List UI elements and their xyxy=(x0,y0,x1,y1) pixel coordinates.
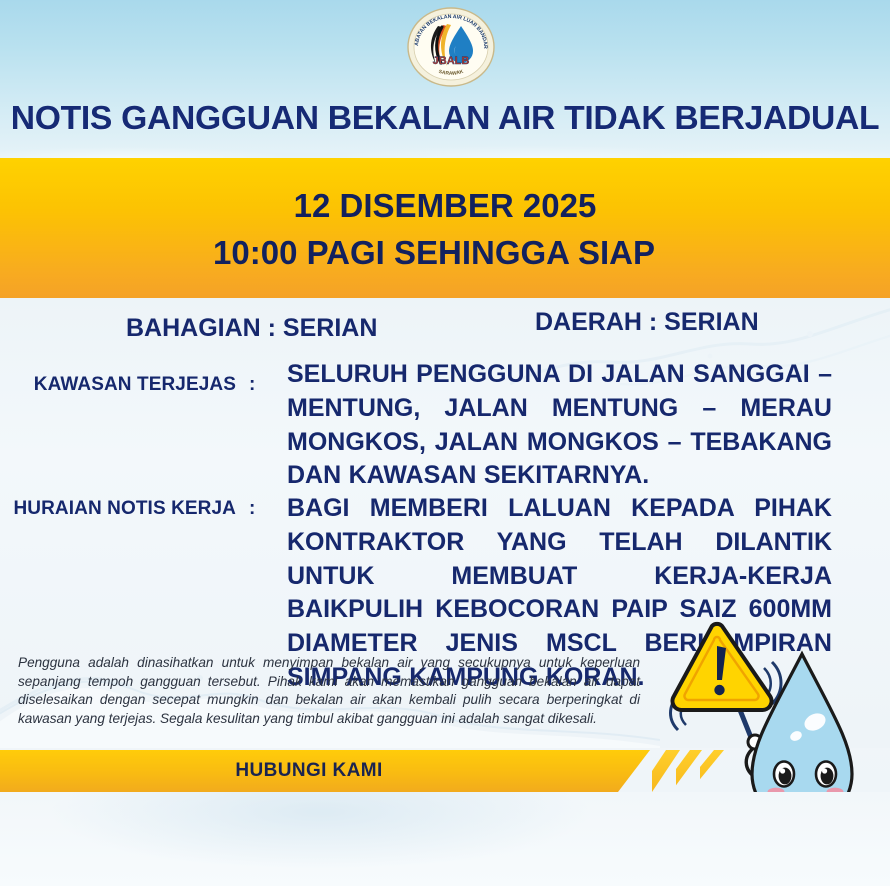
page-title: NOTIS GANGGUAN BEKALAN AIR TIDAK BERJADU… xyxy=(0,99,890,137)
schedule-time: 10:00 PAGI SEHINGGA SIAP xyxy=(213,234,677,273)
field-value: SELURUH PENGGUNA DI JALAN SANGGAI – MENT… xyxy=(287,358,832,493)
field-label: HURAIAN NOTIS KERJA xyxy=(0,498,236,520)
notice-poster: JABATAN BEKALAN AIR LUAR BANDAR SARAWAK … xyxy=(0,0,890,886)
bahagian-label: BAHAGIAN : SERIAN xyxy=(126,314,377,343)
banner-slash-3 xyxy=(700,750,730,792)
notice-body: BAHAGIAN : SERIAN DAERAH : SERIAN KAWASA… xyxy=(0,298,890,748)
region-row: BAHAGIAN : SERIAN DAERAH : SERIAN xyxy=(0,308,890,352)
daerah-label: DAERAH : SERIAN xyxy=(535,308,759,337)
jbalb-logo-icon: JABATAN BEKALAN AIR LUAR BANDAR SARAWAK … xyxy=(405,6,497,88)
contact-banner: HUBUNGI KAMI xyxy=(0,750,890,792)
field-colon: : xyxy=(249,498,255,520)
contact-banner-title: HUBUNGI KAMI xyxy=(0,750,618,792)
svg-text:JBALB: JBALB xyxy=(433,55,470,67)
field-colon: : xyxy=(249,374,255,396)
contact-footer: CALL CENTRE JBALB SARAWAK 082-262211 JBA… xyxy=(0,792,890,886)
schedule-date: 12 DISEMBER 2025 xyxy=(294,187,597,226)
disclaimer-text: Pengguna adalah dinasihatkan untuk menyi… xyxy=(18,654,640,728)
field-label: KAWASAN TERJEJAS xyxy=(0,374,236,396)
jbalb-logo: JABATAN BEKALAN AIR LUAR BANDAR SARAWAK … xyxy=(405,6,497,88)
schedule-banner: 12 DISEMBER 2025 10:00 PAGI SEHINGGA SIA… xyxy=(0,158,890,298)
